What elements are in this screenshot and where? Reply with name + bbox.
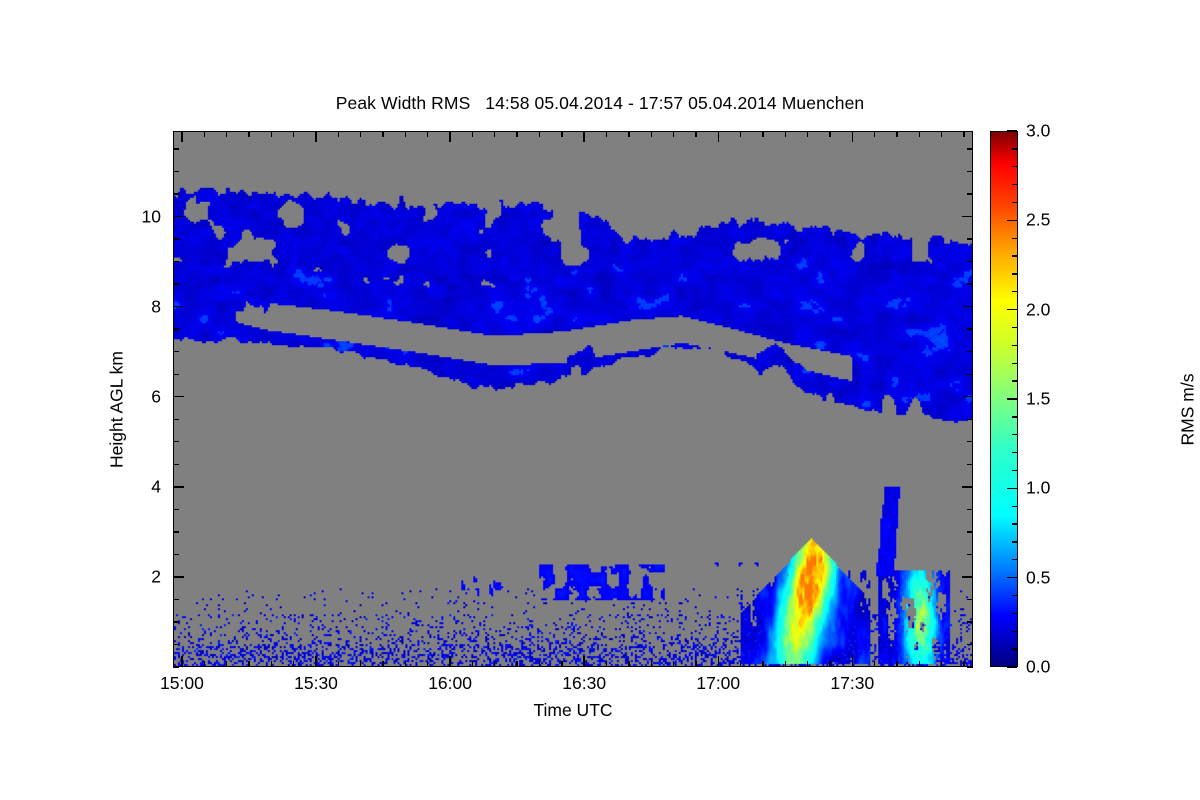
y-tick-mark [173, 396, 184, 397]
x-tick-mark-top [583, 131, 584, 142]
x-tick-mark-top [539, 131, 540, 137]
x-tick-label: 15:00 [160, 673, 204, 694]
x-tick-label: 16:30 [562, 673, 606, 694]
x-tick-mark-top [382, 131, 383, 137]
x-tick-mark [494, 661, 495, 667]
y-tick-mark-right [967, 328, 973, 329]
x-tick-mark-top [718, 131, 719, 142]
x-tick-mark [874, 661, 875, 667]
y-tick-mark-right [962, 216, 973, 217]
x-tick-mark-top [293, 131, 294, 137]
x-tick-mark [606, 661, 607, 667]
x-tick-mark-top [271, 131, 272, 137]
x-tick-mark [740, 661, 741, 667]
x-tick-mark-top [874, 131, 875, 137]
y-tick-mark [173, 374, 179, 375]
y-tick-mark-right [962, 306, 973, 307]
colorbar-tick-mark [1012, 506, 1017, 507]
y-tick-mark-right [962, 576, 973, 577]
y-tick-mark-right [967, 621, 973, 622]
y-tick-mark-right [967, 554, 973, 555]
heatmap-plot-area[interactable] [173, 131, 973, 667]
colorbar-tick-mark [1012, 148, 1017, 149]
y-tick-mark-right [962, 396, 973, 397]
x-tick-mark [315, 656, 316, 667]
colorbar-tick-label: 2.5 [1026, 210, 1050, 231]
x-tick-mark [807, 661, 808, 667]
y-tick-mark [173, 283, 179, 284]
x-tick-mark-top [673, 131, 674, 137]
colorbar-tick-mark [1007, 220, 1017, 221]
y-tick-mark [173, 328, 179, 329]
x-tick-mark-top [181, 131, 182, 142]
x-tick-mark [204, 661, 205, 667]
colorbar-tick-mark [1012, 327, 1017, 328]
colorbar-tick-mark [1012, 523, 1017, 524]
x-tick-mark-top [963, 131, 964, 137]
colorbar-tick-mark [1012, 202, 1017, 203]
x-tick-mark-top [606, 131, 607, 137]
heatmap-data-canvas [174, 132, 972, 666]
y-tick-label: 10 [113, 206, 161, 227]
x-tick-mark [516, 661, 517, 667]
y-tick-mark-right [967, 441, 973, 442]
x-tick-mark-top [762, 131, 763, 137]
y-tick-mark-right [967, 148, 973, 149]
colorbar-tick-mark [1012, 166, 1017, 167]
x-tick-mark [583, 656, 584, 667]
x-tick-mark-top [449, 131, 450, 142]
y-tick-mark-right [967, 238, 973, 239]
x-tick-mark [427, 661, 428, 667]
x-tick-mark [718, 656, 719, 667]
x-tick-mark [271, 661, 272, 667]
x-tick-mark-top [807, 131, 808, 137]
colorbar-tick-mark [1007, 666, 1017, 667]
y-tick-label: 2 [113, 566, 161, 587]
x-tick-label: 16:00 [428, 673, 472, 694]
y-tick-mark [173, 621, 179, 622]
x-tick-mark [829, 661, 830, 667]
colorbar-label: RMS m/s [1178, 290, 1199, 530]
y-tick-mark [173, 576, 184, 577]
y-tick-mark [173, 441, 179, 442]
y-tick-mark-right [967, 531, 973, 532]
colorbar-tick-mark [1007, 398, 1017, 399]
y-tick-mark-right [962, 486, 973, 487]
x-tick-mark-top [628, 131, 629, 137]
page-title: Peak Width RMS 14:58 05.04.2014 - 17:57 … [0, 93, 1200, 114]
x-tick-mark [338, 661, 339, 667]
x-tick-mark-top [785, 131, 786, 137]
x-tick-mark [673, 661, 674, 667]
y-tick-mark [173, 419, 179, 420]
y-tick-mark-right [967, 261, 973, 262]
x-tick-mark [785, 661, 786, 667]
colorbar-tick-mark [1007, 309, 1017, 310]
colorbar-tick-label: 0.0 [1026, 657, 1050, 678]
x-tick-mark [628, 661, 629, 667]
x-tick-mark [226, 661, 227, 667]
x-tick-mark-top [852, 131, 853, 142]
x-tick-mark-top [561, 131, 562, 137]
y-tick-mark [173, 193, 179, 194]
colorbar-tick-mark [1012, 434, 1017, 435]
colorbar-tick-mark [1012, 452, 1017, 453]
x-tick-mark-top [516, 131, 517, 137]
y-tick-mark-right [967, 464, 973, 465]
x-tick-mark [695, 661, 696, 667]
colorbar-tick-label: 1.5 [1026, 389, 1050, 410]
y-tick-mark-right [967, 283, 973, 284]
y-tick-mark-right [967, 419, 973, 420]
x-tick-mark [405, 661, 406, 667]
x-tick-mark [852, 656, 853, 667]
colorbar-tick-mark [1012, 291, 1017, 292]
x-tick-mark-top [248, 131, 249, 137]
colorbar-tick-mark [1007, 130, 1017, 131]
x-tick-mark [896, 661, 897, 667]
colorbar-tick-mark [1012, 613, 1017, 614]
y-tick-mark [173, 216, 184, 217]
x-axis-label: Time UTC [173, 700, 973, 721]
y-tick-mark-right [967, 193, 973, 194]
x-tick-mark [382, 661, 383, 667]
y-tick-mark [173, 351, 179, 352]
x-tick-mark-top [695, 131, 696, 137]
colorbar-tick-mark [1012, 363, 1017, 364]
y-axis-label: Height AGL km [107, 290, 128, 530]
colorbar-tick-label: 1.0 [1026, 478, 1050, 499]
x-tick-mark-top [315, 131, 316, 142]
colorbar-tick-mark [1012, 416, 1017, 417]
x-tick-mark-top [941, 131, 942, 137]
x-tick-mark-top [427, 131, 428, 137]
x-tick-mark-top [472, 131, 473, 137]
x-tick-mark-top [829, 131, 830, 137]
x-tick-mark [941, 661, 942, 667]
x-tick-mark-top [494, 131, 495, 137]
y-tick-mark [173, 238, 179, 239]
x-tick-mark [963, 661, 964, 667]
y-tick-mark [173, 554, 179, 555]
x-tick-mark-top [919, 131, 920, 137]
y-tick-mark-right [967, 374, 973, 375]
colorbar-tick-label: 3.0 [1026, 121, 1050, 142]
colorbar-tick-mark [1012, 184, 1017, 185]
y-tick-mark [173, 644, 179, 645]
y-tick-mark [173, 464, 179, 465]
colorbar-tick-label: 2.0 [1026, 299, 1050, 320]
y-tick-mark [173, 148, 179, 149]
colorbar-tick-label: 0.5 [1026, 567, 1050, 588]
y-tick-mark-right [967, 644, 973, 645]
x-tick-mark-top [651, 131, 652, 137]
y-tick-mark-right [967, 171, 973, 172]
x-tick-mark-top [338, 131, 339, 137]
colorbar-tick-mark [1012, 380, 1017, 381]
y-tick-mark [173, 666, 179, 667]
x-tick-mark-top [740, 131, 741, 137]
x-tick-mark-top [360, 131, 361, 137]
colorbar-tick-mark [1007, 577, 1017, 578]
figure-canvas: Peak Width RMS 14:58 05.04.2014 - 17:57 … [0, 0, 1200, 800]
x-tick-mark [762, 661, 763, 667]
y-tick-mark [173, 171, 179, 172]
y-tick-mark [173, 531, 179, 532]
x-tick-mark [651, 661, 652, 667]
x-tick-mark-top [405, 131, 406, 137]
colorbar-tick-mark [1012, 541, 1017, 542]
colorbar-tick-mark [1012, 255, 1017, 256]
y-tick-mark [173, 261, 179, 262]
x-tick-mark [360, 661, 361, 667]
colorbar-tick-mark [1012, 273, 1017, 274]
x-tick-mark [449, 656, 450, 667]
x-tick-label: 17:30 [830, 673, 874, 694]
y-tick-mark [173, 599, 179, 600]
colorbar-tick-mark [1012, 631, 1017, 632]
x-tick-mark-top [226, 131, 227, 137]
colorbar-tick-mark [1012, 648, 1017, 649]
x-tick-mark [561, 661, 562, 667]
x-tick-mark [181, 656, 182, 667]
y-tick-mark-right [967, 509, 973, 510]
x-tick-mark [539, 661, 540, 667]
colorbar-tick-mark [1012, 559, 1017, 560]
colorbar-tick-mark [1012, 470, 1017, 471]
x-tick-mark [472, 661, 473, 667]
y-tick-mark-right [967, 599, 973, 600]
y-tick-mark [173, 509, 179, 510]
y-tick-mark [173, 486, 184, 487]
colorbar-tick-mark [1007, 488, 1017, 489]
colorbar-tick-mark [1012, 345, 1017, 346]
x-tick-mark [248, 661, 249, 667]
x-tick-label: 15:30 [294, 673, 338, 694]
y-tick-mark-right [967, 666, 973, 667]
y-tick-mark-right [967, 351, 973, 352]
x-tick-mark [919, 661, 920, 667]
y-tick-mark [173, 306, 184, 307]
x-tick-mark [293, 661, 294, 667]
x-tick-label: 17:00 [696, 673, 740, 694]
colorbar-tick-mark [1012, 595, 1017, 596]
colorbar-tick-mark [1012, 238, 1017, 239]
x-tick-mark-top [204, 131, 205, 137]
x-tick-mark-top [896, 131, 897, 137]
